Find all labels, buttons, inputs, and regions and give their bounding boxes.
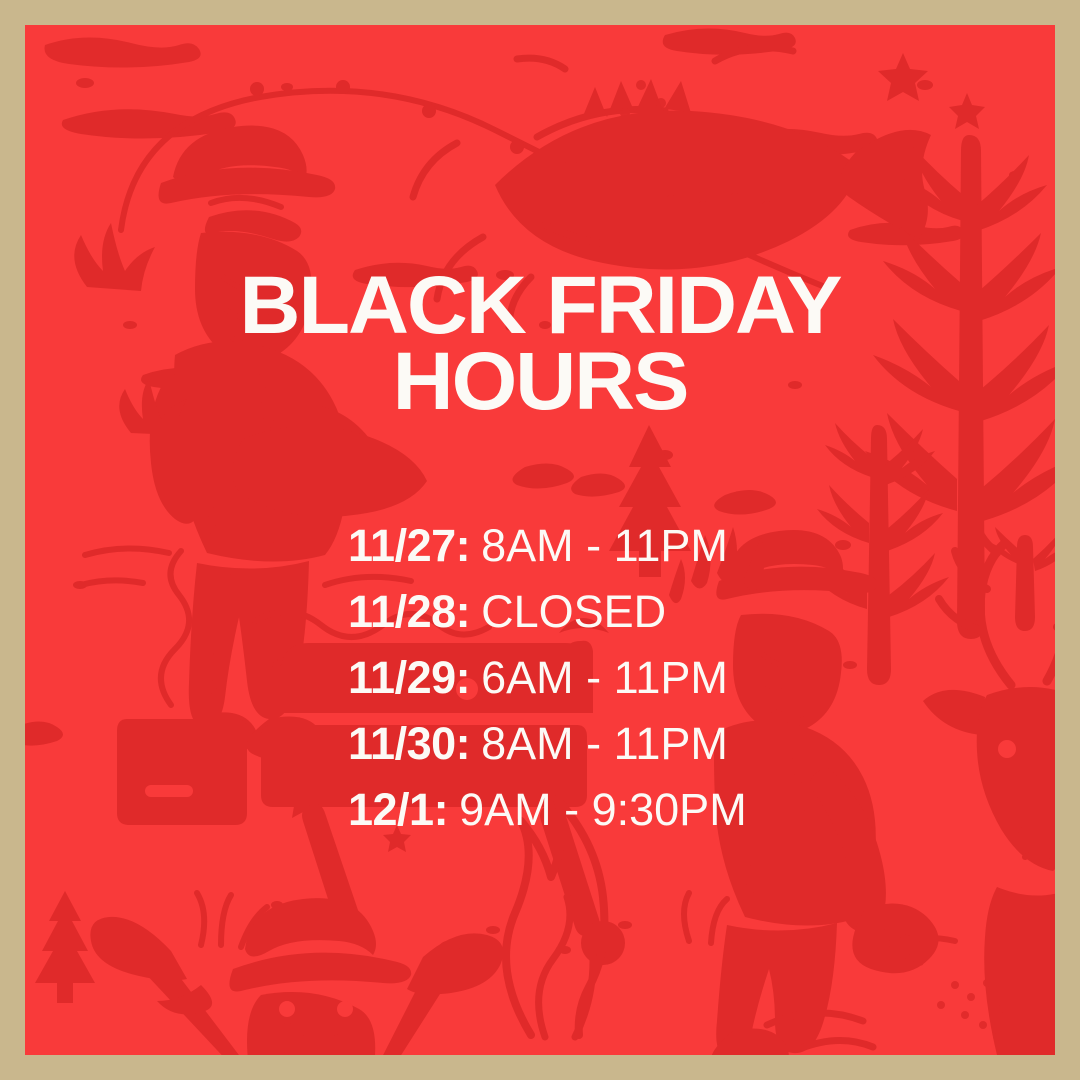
hours-date: 11/27: [348,523,470,568]
title-line-2: HOURS [25,344,1055,420]
hours-time: 6AM - 11PM [481,655,728,700]
hours-row: 11/30: 8AM - 11PM [348,721,988,787]
hours-row: 12/1: 9AM - 9:30PM [348,787,988,853]
hours-time: 8AM - 11PM [481,721,728,766]
hours-row: 11/29: 6AM - 11PM [348,655,988,721]
hours-row: 11/27: 8AM - 11PM [348,523,988,589]
hours-date: 11/30: [348,721,470,766]
title-line-1: BLACK FRIDAY [25,268,1055,344]
hours-date: 11/29: [348,655,470,700]
poster-canvas: .ink { fill: none; stroke: #E02A2A; stro… [25,25,1055,1055]
hours-time: 9AM - 9:30PM [459,787,747,832]
hours-time: 8AM - 11PM [481,523,728,568]
hours-list: 11/27: 8AM - 11PM 11/28: CLOSED 11/29: 6… [348,523,988,853]
poster-content: BLACK FRIDAY HOURS 11/27: 8AM - 11PM 11/… [25,25,1055,1055]
hours-date: 11/28: [348,589,470,634]
black-friday-hours-poster: .ink { fill: none; stroke: #E02A2A; stro… [0,0,1080,1080]
hours-time: CLOSED [481,589,666,634]
hours-date: 12/1: [348,787,448,832]
page-title: BLACK FRIDAY HOURS [25,268,1055,421]
hours-row: 11/28: CLOSED [348,589,988,655]
